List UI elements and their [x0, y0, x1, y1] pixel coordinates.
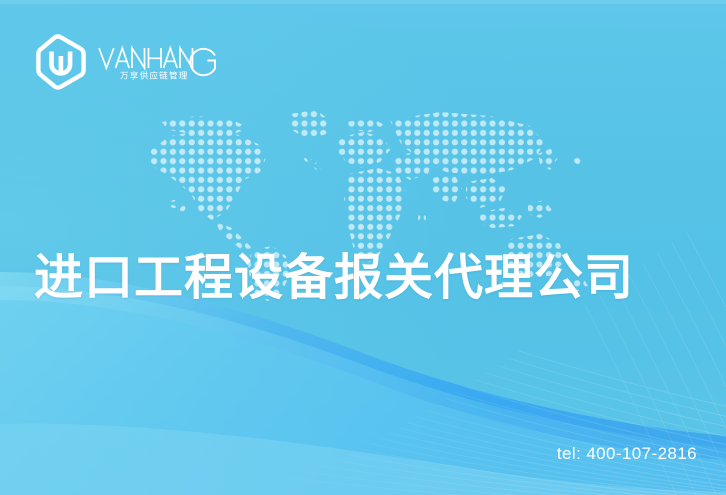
promo-banner: 万享供应链管理 进口工程设备报关代理公司 tel: 400-107-2816 — [0, 0, 726, 495]
company-logo[interactable]: 万享供应链管理 — [33, 33, 220, 91]
hexagon-u-mark-icon — [33, 34, 89, 90]
logo-wordmark: 万享供应链管理 — [98, 39, 220, 85]
contact-phone[interactable]: tel: 400-107-2816 — [557, 444, 697, 464]
logo-subtitle: 万享供应链管理 — [120, 70, 189, 82]
page-title: 进口工程设备报关代理公司 — [34, 247, 714, 309]
